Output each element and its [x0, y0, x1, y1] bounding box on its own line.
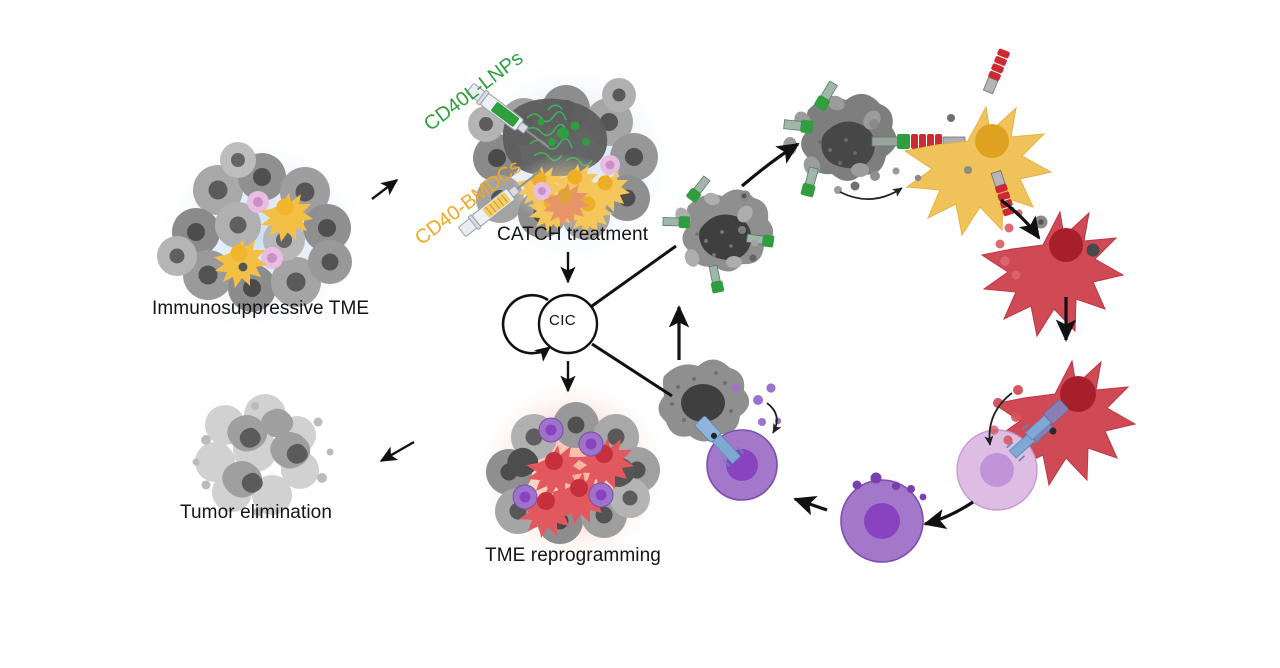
- label-cic: CIC: [549, 312, 576, 329]
- diagram-svg: [0, 0, 1280, 668]
- arrow-cycle-5: [795, 499, 827, 510]
- figure-canvas: Immunosuppressive TME CATCH treatment TM…: [0, 0, 1280, 668]
- stage-t-cell-activation[interactable]: [841, 473, 926, 563]
- arrow-cycle-2: [1001, 200, 1039, 238]
- stage-catch-treatment[interactable]: [457, 78, 658, 240]
- stage-dc-maturation[interactable]: [982, 209, 1123, 336]
- stage-tumor-cell-lnp[interactable]: [663, 175, 775, 294]
- label-tme-reprogramming: TME reprogramming: [485, 545, 661, 567]
- granule-arrow: [767, 403, 777, 433]
- arrow-cycle-4: [925, 502, 973, 524]
- stage-t-cell-priming[interactable]: [957, 361, 1135, 510]
- arrow-tme-to-catch: [372, 180, 397, 199]
- arrow-cycle-1: [742, 144, 798, 186]
- dendritic-cell-yellow: [905, 107, 1051, 235]
- uptake-arrow: [840, 188, 902, 199]
- arrow-reprogramming-to-elimination: [381, 442, 414, 461]
- stage-tumor-killing[interactable]: [658, 359, 781, 500]
- label-catch-treatment: CATCH treatment: [497, 224, 648, 246]
- label-immunosuppressive-tme: Immunosuppressive TME: [152, 298, 369, 320]
- stage-tumor-elimination[interactable]: [193, 394, 334, 517]
- label-tumor-elimination: Tumor elimination: [180, 502, 332, 524]
